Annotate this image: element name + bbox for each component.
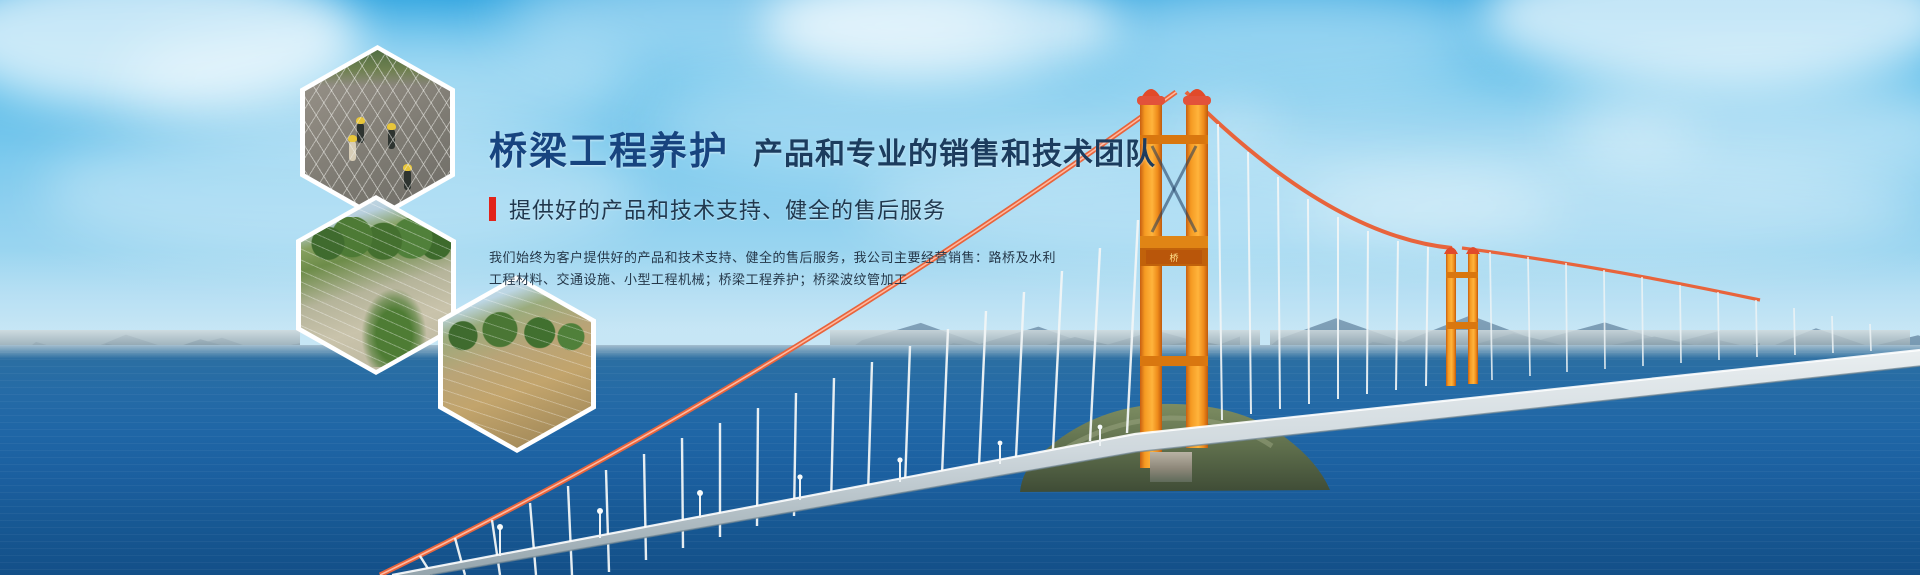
headline-row: 桥梁工程养护 产品和专业的销售和技术团队	[489, 120, 1209, 175]
worker-figure	[349, 141, 356, 161]
worker-figure	[357, 123, 364, 143]
worker-figure	[388, 129, 395, 149]
description-line-1: 我们始终为客户提供好的产品和技术支持、健全的售后服务，我公司主要经营销售：路桥及…	[489, 247, 1129, 269]
bridge-pier	[1150, 452, 1192, 482]
photo-green-slope-mesh	[301, 200, 451, 370]
main-cable-right	[1462, 248, 1760, 300]
hero-banner: 桥	[0, 0, 1920, 575]
hex-photo-frame	[305, 50, 450, 215]
photo-treeline	[446, 300, 588, 350]
headline-main: 桥梁工程养护	[489, 120, 729, 175]
banner-copy: 桥梁工程养护 产品和专业的销售和技术团队 提供好的产品和技术支持、健全的售后服务…	[489, 120, 1209, 291]
photo-dry-slope-mesh	[443, 280, 591, 448]
banner-description: 我们始终为客户提供好的产品和技术支持、健全的售后服务，我公司主要经营销售：路桥及…	[489, 247, 1129, 291]
subheadline-row: 提供好的产品和技术支持、健全的售后服务	[489, 193, 1209, 225]
hex-photo-frame	[443, 280, 591, 448]
deck-lamp-heads	[497, 425, 1102, 530]
photo-rock-slope-mesh-installation	[305, 50, 450, 215]
worker-figure	[404, 170, 411, 190]
headline-sub: 产品和专业的销售和技术团队	[753, 129, 1156, 173]
accent-bar	[489, 197, 496, 221]
bridge-side-tower	[1444, 247, 1480, 386]
description-line-2: 工程材料、交通设施、小型工程机械；桥梁工程养护；桥梁波纹管加工	[489, 269, 1129, 291]
bridge-hangers-center	[1218, 124, 1428, 420]
subheadline-text: 提供好的产品和技术支持、健全的售后服务	[509, 193, 946, 225]
main-cable-center	[1186, 92, 1452, 248]
hex-photo-frame	[301, 200, 451, 370]
